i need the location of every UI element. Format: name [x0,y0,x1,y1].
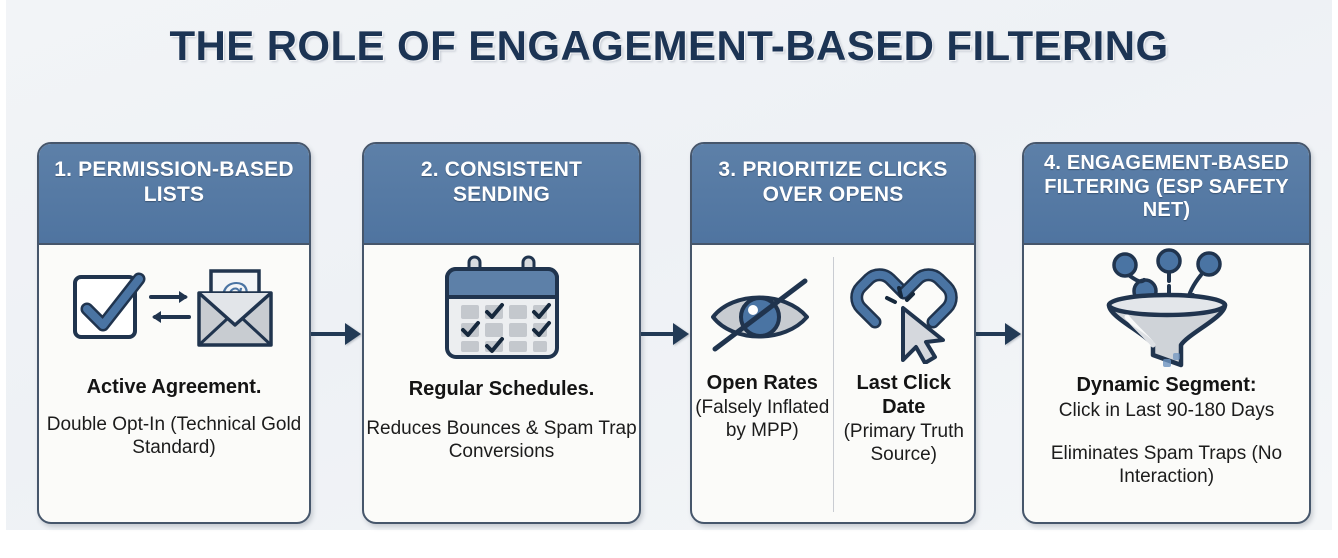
step-card-subline: Reduces Bounces & Spam Trap Conversions [364,417,639,463]
step-card-subline-primary: Click in Last 90-180 Days [1059,399,1274,422]
link-click-cursor-icon [845,261,963,367]
step-card-headline: Dynamic Segment: [1076,373,1256,397]
step-card-header: 4. ENGAGEMENT-BASED FILTERING (ESP SAFET… [1024,144,1309,245]
connector-arrow-1-to-2 [311,322,361,346]
connector-arrow-2-to-3 [641,322,689,346]
step-card-prioritize-clicks[interactable]: 3. PRIORITIZE CLICKS OVER OPENS Open Rat… [690,142,976,524]
split-subline: (Primary Truth Source) [834,420,975,466]
step-card-header: 2. CONSISTENT SENDING [364,144,639,245]
step-card-headline: Regular Schedules. [409,377,595,401]
calendar-checkmarks-icon [364,245,639,373]
split-col-open-rates: Open Rates (Falsely Inflated by MPP) [692,245,833,522]
step-card-body: Open Rates (Falsely Inflated by MPP) [692,245,974,522]
checkbox-exchange-envelope-icon: @ [39,245,309,373]
arrow-head-icon [345,323,361,345]
page-title: THE ROLE OF ENGAGEMENT-BASED FILTERING [0,22,1338,70]
step-card-body: Dynamic Segment: Click in Last 90-180 Da… [1024,245,1309,522]
funnel-filter-icon [1024,245,1309,373]
step-card-header: 3. PRIORITIZE CLICKS OVER OPENS [692,144,974,245]
step-card-consistent-sending[interactable]: 2. CONSISTENT SENDING [362,142,641,524]
split-headline: Open Rates [707,371,818,395]
split-container: Open Rates (Falsely Inflated by MPP) [692,245,974,522]
arrow-shaft [641,332,674,336]
infographic-root: THE ROLE OF ENGAGEMENT-BASED FILTERING 1… [0,0,1338,558]
connector-arrow-3-to-4 [976,322,1021,346]
arrow-head-icon [1005,323,1021,345]
step-card-header: 1. PERMISSION-BASED LISTS [39,144,309,245]
eye-off-icon [703,261,821,367]
arrow-shaft [976,332,1006,336]
split-col-last-click-date: Last Click Date (Primary Truth Source) [834,245,975,522]
step-card-body: @ Active Agreement. Double Opt-In (Techn… [39,245,309,522]
split-headline: Last Click Date [834,371,975,419]
step-card-body: Regular Schedules. Reduces Bounces & Spa… [364,245,639,522]
step-card-subline-secondary: Eliminates Spam Traps (No Interaction) [1024,442,1309,488]
split-subline: (Falsely Inflated by MPP) [692,396,833,442]
step-card-permission-based-lists[interactable]: 1. PERMISSION-BASED LISTS @ [37,142,311,524]
arrow-shaft [311,332,346,336]
arrow-head-icon [673,323,689,345]
step-card-headline: Active Agreement. [87,375,262,399]
step-card-subline: Double Opt-In (Technical Gold Standard) [39,413,309,459]
step-card-engagement-based-filtering[interactable]: 4. ENGAGEMENT-BASED FILTERING (ESP SAFET… [1022,142,1311,524]
